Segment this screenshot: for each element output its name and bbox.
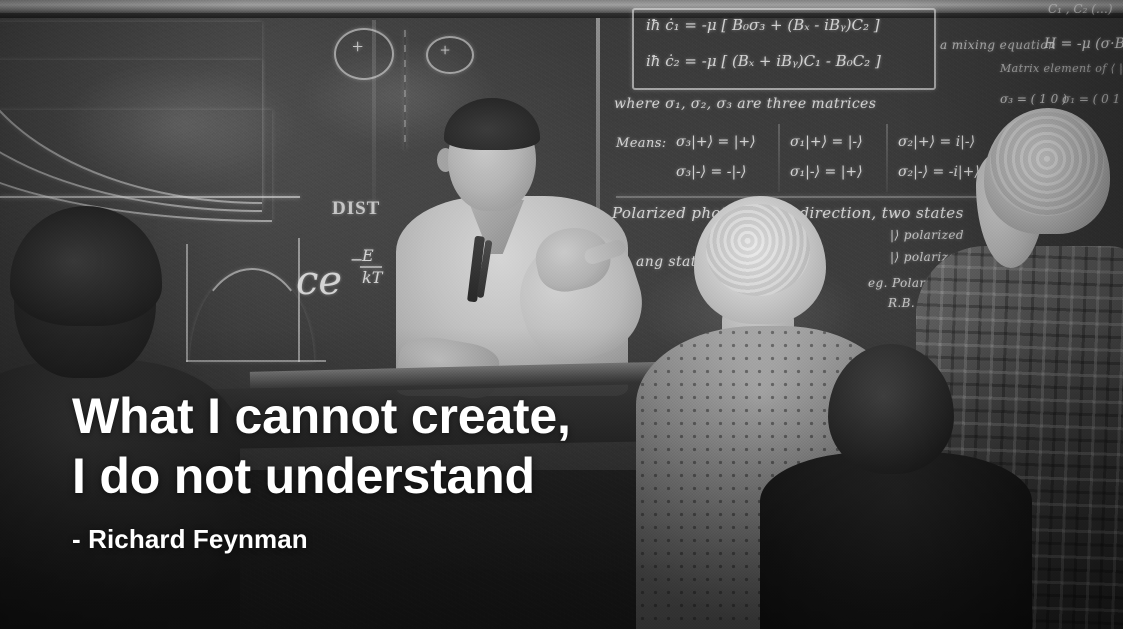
quote-line-2: I do not understand [72,446,772,506]
quote-overlay: What I cannot create, I do not understan… [72,386,772,554]
quote-line-1: What I cannot create, [72,386,772,446]
quote-image: + + + + DIST ce − E kT iħ ċ₁ = -μ [ B₀σ₃… [0,0,1123,629]
quote-attribution: - Richard Feynman [72,524,772,554]
